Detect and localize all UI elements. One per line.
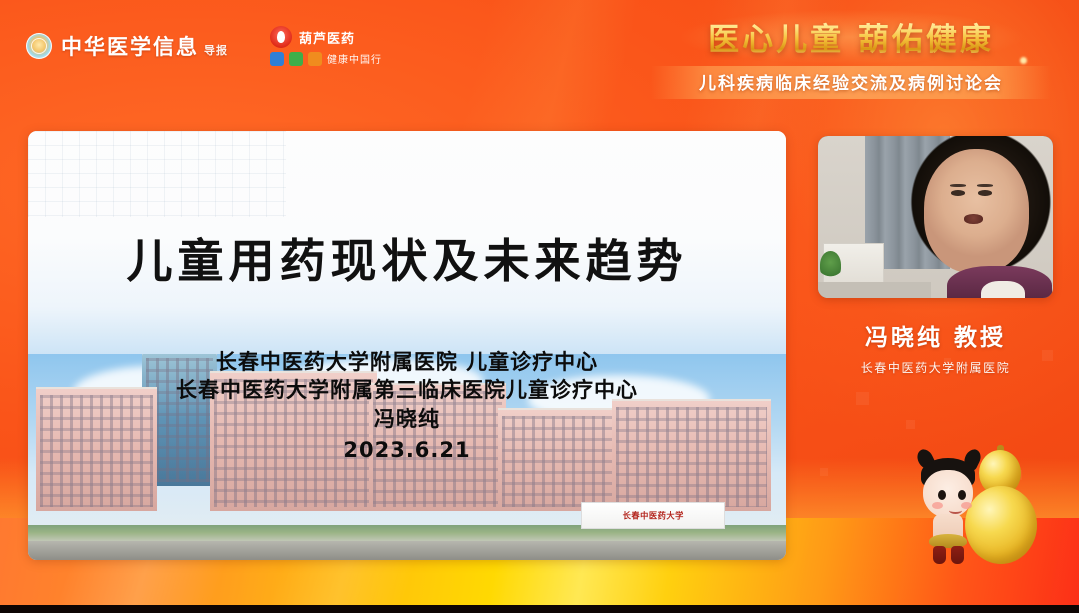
orange-chip-icon xyxy=(308,52,322,66)
speaker-name: 冯晓纯 教授 xyxy=(818,318,1053,352)
speaker-video-feed[interactable] xyxy=(818,136,1053,298)
slide-line-3: 冯晓纯 xyxy=(28,404,786,435)
background-bottom-letterbox xyxy=(0,605,1079,613)
green-chip-icon xyxy=(289,52,303,66)
video-eye-left xyxy=(951,190,965,196)
blue-chip-icon xyxy=(270,52,284,66)
logo-hulu-top: 葫芦医药 xyxy=(270,26,382,48)
photo-road xyxy=(28,541,786,560)
mascot-face xyxy=(923,470,973,518)
video-eye-right xyxy=(978,190,992,196)
video-brow-left xyxy=(950,184,966,187)
video-brow-right xyxy=(977,184,993,187)
mascot-cheek-right xyxy=(961,502,972,509)
logo-cmt-suffix: 导报 xyxy=(204,44,228,57)
mascot-boot-left xyxy=(933,546,946,564)
event-subtitle-band: 儿科疾病临床经验交流及病例讨论会 xyxy=(651,66,1051,99)
video-collar xyxy=(981,281,1025,298)
mascot-cheek-left xyxy=(932,502,943,509)
event-title-block: 医心儿童 葫佑健康 儿科疾病临床经验交流及病例讨论会 xyxy=(651,14,1051,99)
slide-subtitle-block: 长春中医药大学附属医院 儿童诊疗中心 长春中医药大学附属第三临床医院儿童诊疗中心… xyxy=(28,349,786,466)
logo-hulu-sub: 健康中国行 xyxy=(327,51,382,66)
campus-sign-text: 长春中医药大学 xyxy=(623,510,684,522)
broadcast-stage: 中华医学信息导报 葫芦医药 健康中国行 医心儿童 葫佑健康 儿科疾病临床经验交流… xyxy=(0,0,1079,613)
calabash-boy-mascot xyxy=(915,440,1065,580)
event-subtitle: 儿科疾病临床经验交流及病例讨论会 xyxy=(651,69,1051,94)
header-logo-row: 中华医学信息导报 葫芦医药 健康中国行 xyxy=(26,26,382,66)
logo-hulu-pharmacy: 葫芦医药 健康中国行 xyxy=(270,26,382,66)
presentation-slide[interactable]: 长春中医药大学 儿童用药现状及未来趋势 长春中医药大学附属医院 儿童诊疗中心 长… xyxy=(28,131,786,560)
video-mouth xyxy=(964,214,984,224)
mascot-mouth xyxy=(949,507,962,514)
logo-china-medical-tribune: 中华医学信息导报 xyxy=(26,31,228,61)
slide-line-2: 长春中医药大学附属第三临床医院儿童诊疗中心 xyxy=(28,377,786,405)
logo-hulu-bottom: 健康中国行 xyxy=(270,51,382,66)
slide-line-4: 2023.6.21 xyxy=(28,435,786,466)
mascot-boy-figure xyxy=(915,458,989,570)
logo-cmt-name: 中华医学信息导报 xyxy=(61,31,228,61)
seal-emblem-icon xyxy=(26,33,52,59)
speaker-organization: 长春中医药大学附属医院 xyxy=(818,359,1053,376)
gourd-badge-icon xyxy=(270,26,292,48)
logo-cmt-name-text: 中华医学信息 xyxy=(61,34,199,59)
slide-line-1: 长春中医药大学附属医院 儿童诊疗中心 xyxy=(28,349,786,377)
sparkle-icon xyxy=(1020,57,1027,64)
mascot-eye-right xyxy=(958,490,966,500)
mascot-boot-right xyxy=(951,546,964,564)
logo-hulu-word: 葫芦医药 xyxy=(299,28,355,47)
speaker-caption: 冯晓纯 教授 长春中医药大学附属医院 xyxy=(818,318,1053,376)
video-face xyxy=(924,149,1029,273)
slide-faint-grid xyxy=(28,131,286,217)
mascot-eye-left xyxy=(938,490,946,500)
event-main-title: 医心儿童 葫佑健康 xyxy=(651,14,1051,59)
video-plant xyxy=(820,251,841,279)
video-speaker-figure xyxy=(893,136,1053,298)
slide-title: 儿童用药现状及未来趋势 xyxy=(28,225,786,291)
campus-sign: 长春中医药大学 xyxy=(581,502,725,529)
